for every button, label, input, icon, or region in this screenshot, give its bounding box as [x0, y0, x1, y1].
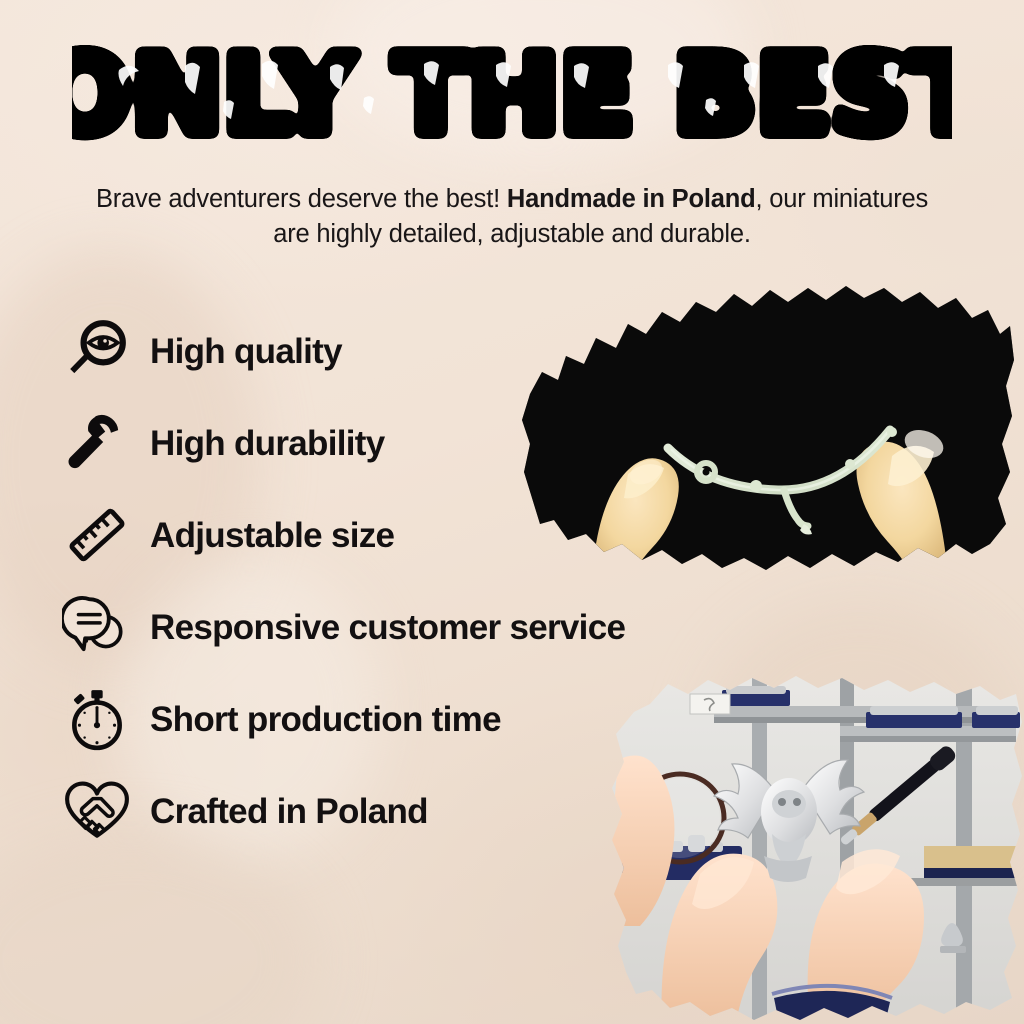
feature-label: Responsive customer service [150, 610, 625, 645]
stopwatch-icon [60, 682, 134, 756]
feature-label: Crafted in Poland [150, 794, 428, 829]
background-wash [330, 0, 750, 160]
speech-bubbles-icon [60, 590, 134, 664]
feature-label: High durability [150, 426, 385, 461]
workshop-painting-photo [604, 668, 1024, 1024]
handshake-heart-icon [60, 774, 134, 848]
background-wash [0, 830, 320, 1024]
subtitle-lead: Brave adventurers deserve the best! [96, 185, 507, 213]
flexible-miniature-photo [520, 276, 1016, 608]
page-title: ONLY THE BEST [0, 36, 1024, 156]
feature-label: Short production time [150, 702, 501, 737]
subtitle: Brave adventurers deserve the best! Hand… [92, 182, 932, 252]
feature-label: High quality [150, 334, 342, 369]
poster-root: ONLY THE BEST Brave adventu [0, 0, 1024, 1024]
subtitle-emphasis: Handmade in Poland [507, 185, 756, 213]
page-title-text: ONLY THE BEST [72, 36, 952, 156]
ruler-icon [60, 498, 134, 572]
feature-label: Adjustable size [150, 518, 394, 553]
title-gloss-highlights [119, 61, 900, 119]
hammer-icon [60, 406, 134, 480]
magnifier-eye-icon [60, 314, 134, 388]
